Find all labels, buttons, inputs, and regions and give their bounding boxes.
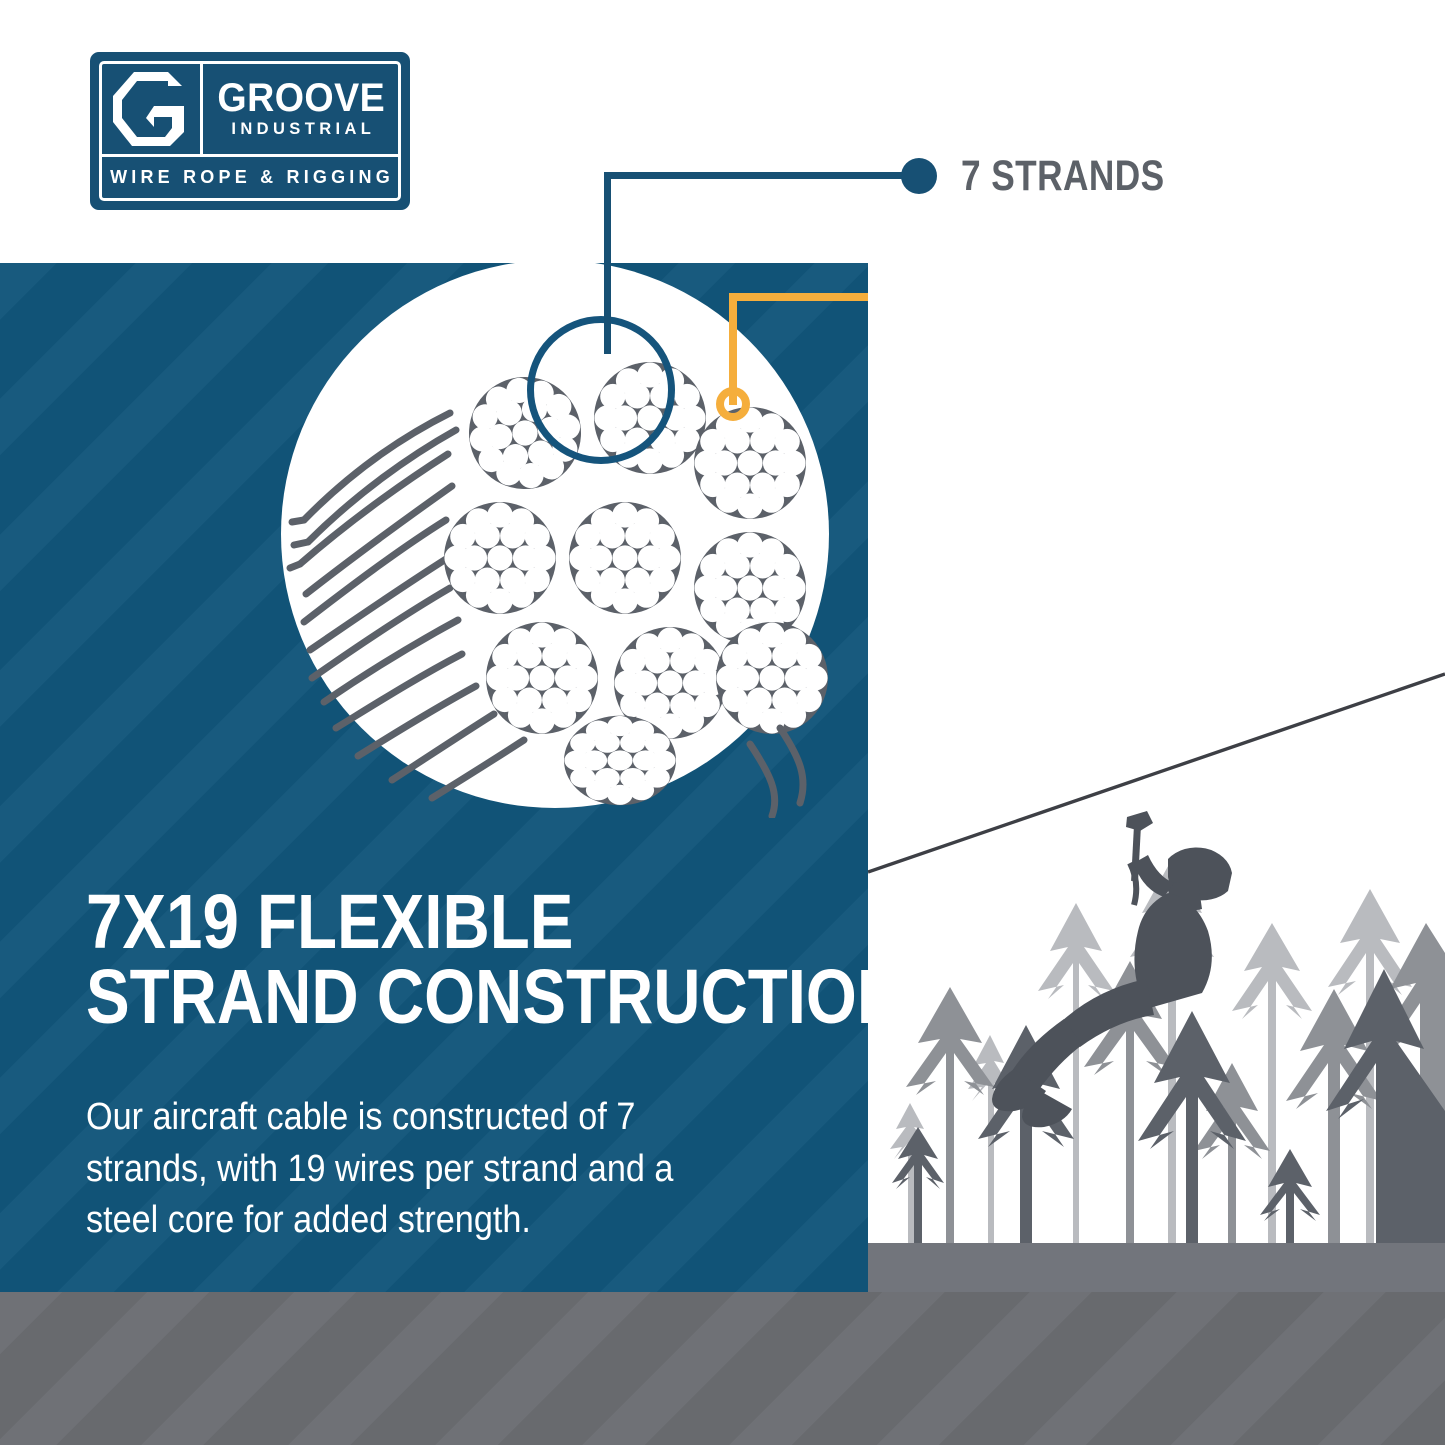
footer-bar — [0, 1292, 1445, 1445]
logo-tagline-row: WIRE ROPE & RIGGING — [102, 157, 398, 198]
page-title-line-1: 7X19 FLEXIBLE — [86, 885, 732, 960]
infographic-canvas: GROOVE INDUSTRIAL WIRE ROPE & RIGGING — [0, 0, 1445, 1445]
page-title: 7X19 FLEXIBLE STRAND CONSTRUCTION — [86, 885, 732, 1034]
logo-tagline: WIRE ROPE & RIGGING — [106, 167, 394, 188]
zipline-scene-image — [868, 263, 1445, 1292]
connector-line-strands-vertical — [604, 172, 611, 354]
callout-dot-strands — [901, 158, 937, 194]
groove-g-icon — [102, 64, 203, 154]
logo-frame: GROOVE INDUSTRIAL WIRE ROPE & RIGGING — [99, 61, 401, 201]
page-title-line-2: STRAND CONSTRUCTION — [86, 960, 732, 1035]
magnifier-ring-icon — [527, 316, 675, 464]
logo-subtitle: INDUSTRIAL — [227, 121, 375, 138]
brand-logo[interactable]: GROOVE INDUSTRIAL WIRE ROPE & RIGGING — [90, 52, 410, 210]
description-text: Our aircraft cable is constructed of 7 s… — [86, 1092, 716, 1247]
logo-name: GROOVE — [217, 80, 385, 117]
logo-wordmark: GROOVE INDUSTRIAL — [203, 64, 398, 154]
logo-top-row: GROOVE INDUSTRIAL — [102, 64, 398, 157]
single-wire-highlight-ring-icon — [716, 387, 750, 421]
connector-line-strands-horizontal — [604, 172, 920, 179]
callout-label-strands: 7 STRANDS — [961, 152, 1165, 201]
